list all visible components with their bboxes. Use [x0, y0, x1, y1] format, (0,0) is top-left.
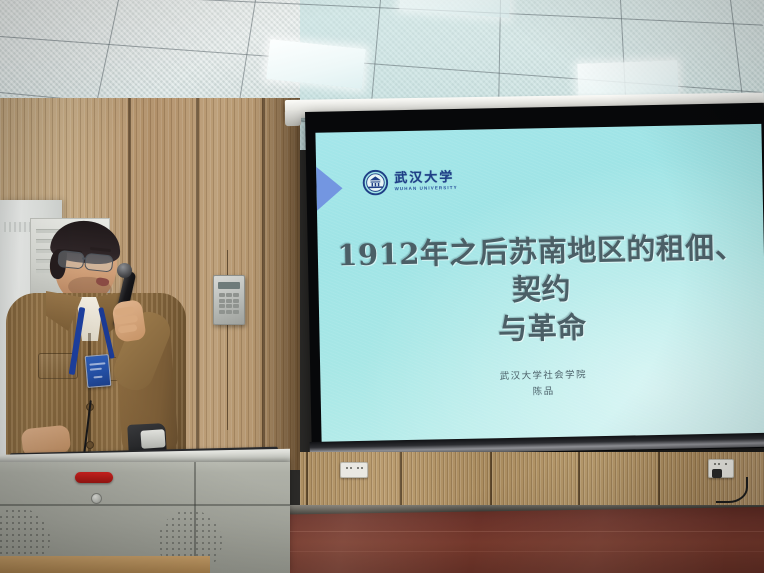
presentation-slide: 武汉大学 WUHAN UNIVERSITY 1912年之后苏南地区的租佃、契约 … — [315, 124, 764, 443]
projection-screen: 武汉大学 WUHAN UNIVERSITY 1912年之后苏南地区的租佃、契约 … — [305, 103, 764, 457]
valance-end-cap — [285, 112, 301, 126]
lectern-lock-icon[interactable] — [91, 493, 102, 504]
university-seal-icon — [362, 169, 389, 196]
university-logo-text: 武汉大学 WUHAN UNIVERSITY — [394, 171, 457, 192]
wall-shadow — [254, 98, 300, 470]
slide-title-line-1: 1912年之后苏南地区的租佃、契约 — [326, 228, 757, 313]
university-name-cn: 武汉大学 — [394, 171, 457, 185]
slide-title: 1912年之后苏南地区的租佃、契约 与革命 — [326, 228, 758, 351]
lectern-brand-plate — [75, 472, 113, 483]
conference-badge — [85, 354, 112, 388]
photo-scene: 武汉大学 WUHAN UNIVERSITY 1912年之后苏南地区的租佃、契约 … — [0, 0, 764, 573]
university-logo: 武汉大学 WUHAN UNIVERSITY — [362, 168, 458, 196]
university-name-en: WUHAN UNIVERSITY — [395, 186, 458, 192]
lectern-base-trim — [0, 556, 210, 573]
monitor-arm — [140, 429, 165, 449]
keypad-display — [218, 282, 240, 289]
wall-keypad-panel[interactable] — [213, 275, 245, 325]
slide-accent-triangle-icon — [316, 166, 343, 211]
hand-right — [111, 299, 146, 343]
power-outlet[interactable] — [340, 462, 368, 478]
keypad-buttons[interactable] — [219, 293, 239, 314]
presenter — [0, 215, 200, 485]
